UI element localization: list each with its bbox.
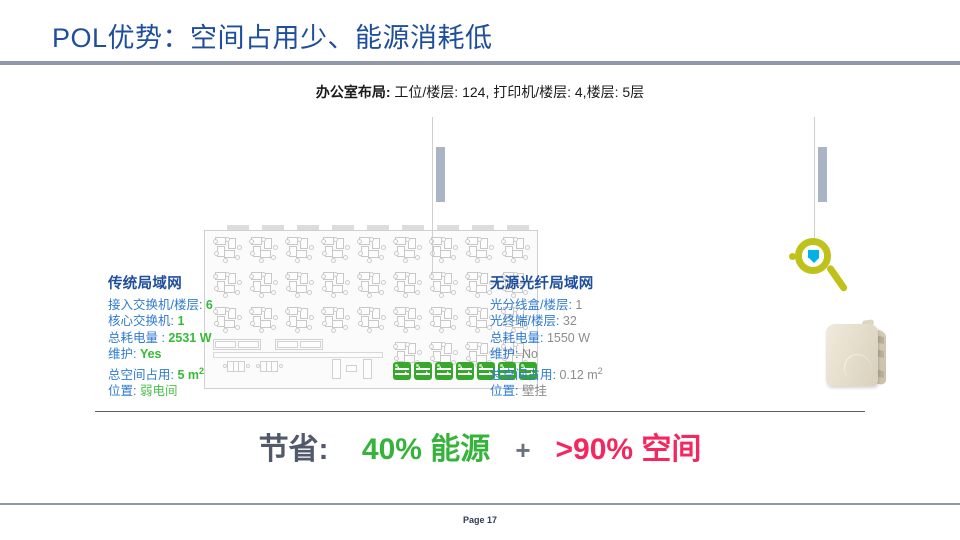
chair <box>273 245 278 250</box>
spec-row: 维护: Yes <box>108 346 213 363</box>
spec-label: 接入交换机/楼层: <box>108 298 206 312</box>
product-port-1 <box>877 336 884 344</box>
chair <box>451 255 456 260</box>
spec-row: 光终端/楼层: 32 <box>490 313 603 330</box>
table-seat <box>238 341 259 348</box>
chair <box>381 315 386 320</box>
chair <box>345 245 350 250</box>
chair <box>259 293 264 298</box>
desk <box>440 285 451 293</box>
desk-cluster <box>213 272 243 298</box>
ethernet-switch-icon <box>435 362 453 380</box>
chair <box>309 280 314 285</box>
chair <box>405 272 410 277</box>
chair <box>333 237 338 242</box>
spec-heading-pol: 无源光纤局域网 <box>490 276 603 293</box>
utility-unit <box>363 359 372 379</box>
chair <box>237 245 242 250</box>
spec-value: 1 <box>575 298 582 312</box>
desk-cluster <box>357 272 387 298</box>
page-number: Page 17 <box>0 515 960 525</box>
chair <box>271 325 276 330</box>
ont-device-icon-zoomed <box>808 250 819 258</box>
chair <box>261 272 266 277</box>
desk-cluster <box>321 237 351 263</box>
chair <box>223 328 228 333</box>
desk-cluster <box>357 307 387 333</box>
chair <box>466 286 471 291</box>
subtitle: 办公室布局: 工位/楼层: 124, 打印机/楼层: 4,楼层: 5层 <box>0 82 960 102</box>
magnifier-dot <box>789 253 796 260</box>
spec-value-superscript: 2 <box>199 366 204 376</box>
chair <box>358 251 363 256</box>
chair <box>235 290 240 295</box>
spec-value: 0.12 m <box>559 368 597 382</box>
desk-cluster <box>285 237 315 263</box>
chair <box>297 237 302 242</box>
desk <box>332 285 343 293</box>
chair <box>246 364 250 368</box>
chair <box>297 272 302 277</box>
chair <box>213 274 218 279</box>
ethernet-switch-icon <box>414 362 432 380</box>
desk-cluster <box>321 307 351 333</box>
chair <box>249 309 254 314</box>
chair <box>475 328 480 333</box>
chair <box>343 255 348 260</box>
chair <box>259 258 264 263</box>
product-photo-splitter-box <box>822 318 894 390</box>
spec-heading-traditional: 传统局域网 <box>108 276 213 293</box>
desk <box>260 285 271 293</box>
chair <box>393 344 398 349</box>
chair <box>285 239 290 244</box>
chair <box>430 356 435 361</box>
spec-label: 光分线盒/楼层: <box>490 298 575 312</box>
spec-value: 弱电间 <box>140 384 178 398</box>
desk <box>404 250 415 258</box>
chair <box>223 258 228 263</box>
chair <box>237 280 242 285</box>
chair <box>430 321 435 326</box>
spec-row: 总耗电量: 1550 W <box>490 330 603 347</box>
chair <box>379 255 384 260</box>
chair <box>441 342 446 347</box>
chair <box>286 321 291 326</box>
chair <box>309 245 314 250</box>
table-seat <box>215 341 236 348</box>
chair <box>225 237 230 242</box>
chair <box>261 307 266 312</box>
subtitle-bold-part: 办公室布局: <box>316 84 391 100</box>
elevator-shaft-right <box>818 147 827 202</box>
chair <box>465 309 470 314</box>
desk <box>440 320 451 328</box>
chair <box>333 272 338 277</box>
chair <box>466 251 471 256</box>
desk <box>260 320 271 328</box>
chair <box>249 239 254 244</box>
chair <box>225 272 230 277</box>
chair <box>321 274 326 279</box>
chair <box>415 325 420 330</box>
summary-label: 节省: <box>259 433 329 466</box>
chair <box>367 293 372 298</box>
spec-row: 核心交换机: 1 <box>108 313 213 330</box>
ethernet-switch-icon <box>393 362 411 380</box>
chair <box>453 350 458 355</box>
floor-plan-traditional <box>100 113 445 278</box>
chair <box>322 321 327 326</box>
chair <box>451 325 456 330</box>
utility-unit <box>332 359 341 379</box>
desk-cluster <box>393 237 423 263</box>
chair <box>357 274 362 279</box>
chair <box>453 315 458 320</box>
desk <box>224 320 235 328</box>
chair <box>307 255 312 260</box>
floor-plan-pol <box>482 113 827 278</box>
shaft-line-left <box>432 117 433 274</box>
chair <box>214 251 219 256</box>
chair <box>286 286 291 291</box>
summary-energy-saving: 40% 能源 <box>362 433 490 466</box>
chair <box>394 286 399 291</box>
chair <box>307 325 312 330</box>
desk <box>476 320 487 328</box>
chair <box>271 290 276 295</box>
chair <box>453 280 458 285</box>
chair <box>237 315 242 320</box>
counter-bar <box>213 352 383 358</box>
product-highlight <box>840 350 876 386</box>
chair <box>379 290 384 295</box>
chair <box>453 245 458 250</box>
chair <box>259 328 264 333</box>
desk-cluster <box>249 307 279 333</box>
chair <box>307 290 312 295</box>
ethernet-switch-icon <box>456 362 474 380</box>
chair <box>250 321 255 326</box>
chair <box>415 255 420 260</box>
chair <box>429 309 434 314</box>
spec-value-superscript: 2 <box>598 366 603 376</box>
chair <box>465 239 470 244</box>
chair <box>295 258 300 263</box>
desk <box>404 320 415 328</box>
chair <box>451 290 456 295</box>
desk <box>296 320 307 328</box>
chair <box>405 237 410 242</box>
window-segment <box>227 225 249 230</box>
spec-row: 位置: 弱电间 <box>108 383 213 400</box>
chair <box>369 307 374 312</box>
chair <box>213 309 218 314</box>
desk-cluster <box>429 237 459 263</box>
spec-list-traditional: 传统局域网 接入交换机/楼层: 6 核心交换机: 1 总耗电量 : 2531 W… <box>108 276 213 400</box>
chair <box>223 293 228 298</box>
spec-value: 1 <box>177 314 184 328</box>
spec-label: 位置: <box>490 384 522 398</box>
desk <box>476 285 487 293</box>
spec-label: 核心交换机: <box>108 314 177 328</box>
chair <box>285 274 290 279</box>
chair <box>273 315 278 320</box>
chair <box>415 290 420 295</box>
chair <box>441 237 446 242</box>
chair <box>214 286 219 291</box>
chair <box>343 325 348 330</box>
chair <box>477 342 482 347</box>
chair <box>394 356 399 361</box>
chair <box>417 280 422 285</box>
chair <box>271 255 276 260</box>
chair <box>394 321 399 326</box>
chair <box>369 272 374 277</box>
spec-value: 1550 W <box>547 331 590 345</box>
desk-cluster <box>249 272 279 298</box>
chair <box>379 325 384 330</box>
chair <box>345 280 350 285</box>
chair <box>367 328 372 333</box>
chair <box>286 251 291 256</box>
chair <box>475 293 480 298</box>
chair <box>279 364 283 368</box>
chair <box>331 328 336 333</box>
chair <box>358 286 363 291</box>
footer-divider <box>0 503 960 505</box>
desk <box>224 285 235 293</box>
chair <box>358 321 363 326</box>
chair <box>235 325 240 330</box>
desk-cluster <box>393 307 423 333</box>
summary-line: 节省: 40% 能源 + >90% 空间 <box>0 424 960 468</box>
window-segment <box>437 225 459 230</box>
desk-cluster <box>429 307 459 333</box>
chair <box>249 274 254 279</box>
chair <box>439 258 444 263</box>
magnifier-handle <box>826 264 849 293</box>
chair <box>343 290 348 295</box>
desk <box>260 250 271 258</box>
spec-value: No <box>522 347 538 361</box>
chair <box>321 309 326 314</box>
window-segment <box>332 225 354 230</box>
chair <box>250 286 255 291</box>
spec-row: 总耗电量 : 2531 W <box>108 330 213 347</box>
spec-label: 位置: <box>108 384 140 398</box>
summary-divider <box>95 411 865 412</box>
desk <box>224 250 235 258</box>
desk-cluster <box>321 272 351 298</box>
table-seat <box>277 341 298 348</box>
desk-cluster <box>429 272 459 298</box>
desk <box>368 285 379 293</box>
chair <box>439 328 444 333</box>
chair <box>417 315 422 320</box>
chair <box>322 251 327 256</box>
chair <box>309 315 314 320</box>
small-desk-divider <box>266 361 272 372</box>
magnifier-icon <box>795 238 843 286</box>
spec-row: 位置: 壁挂 <box>490 383 603 400</box>
chair <box>297 307 302 312</box>
spec-value: 壁挂 <box>522 384 547 398</box>
desk-cluster <box>285 307 315 333</box>
chair <box>261 237 266 242</box>
desk-cluster <box>213 307 243 333</box>
spec-label: 维护: <box>108 347 140 361</box>
chair <box>250 251 255 256</box>
desk <box>368 320 379 328</box>
spec-label: 光终端/楼层: <box>490 314 563 328</box>
chair <box>403 258 408 263</box>
chair <box>331 293 336 298</box>
spec-value: 5 m <box>177 368 199 382</box>
spec-value: 2531 W <box>168 331 211 345</box>
desk <box>440 250 451 258</box>
spec-row: 维护: No <box>490 346 603 363</box>
chair <box>273 280 278 285</box>
product-port-2 <box>877 350 884 358</box>
chair <box>214 321 219 326</box>
chair <box>381 280 386 285</box>
chair <box>285 309 290 314</box>
product-body <box>826 324 878 386</box>
desk-cluster <box>393 272 423 298</box>
chair <box>430 286 435 291</box>
chair <box>465 344 470 349</box>
chair <box>439 293 444 298</box>
chair <box>357 309 362 314</box>
elevator-shaft-left <box>436 147 445 202</box>
desk <box>404 285 415 293</box>
window-segment <box>367 225 389 230</box>
chair <box>357 239 362 244</box>
spec-row: 总空间占用: 0.12 m2 <box>490 363 603 384</box>
chair <box>465 274 470 279</box>
chair <box>403 293 408 298</box>
chair <box>393 239 398 244</box>
chair <box>235 255 240 260</box>
window-segment <box>402 225 424 230</box>
spec-value: 6 <box>206 298 213 312</box>
utility-unit <box>346 365 357 372</box>
chair <box>466 356 471 361</box>
chair <box>477 307 482 312</box>
chair <box>223 364 227 368</box>
spec-value: 32 <box>563 314 577 328</box>
window-segment <box>297 225 319 230</box>
desk-cluster <box>357 237 387 263</box>
desk-cluster <box>213 237 243 263</box>
summary-space-saving: >90% 空间 <box>556 433 702 466</box>
chair <box>367 258 372 263</box>
slide-root: POL优势：空间占用少、能源消耗低 办公室布局: 工位/楼层: 124, 打印机… <box>0 0 960 540</box>
chair <box>417 245 422 250</box>
spec-value: Yes <box>140 347 162 361</box>
desk <box>296 250 307 258</box>
spec-label: 总耗电量: <box>490 331 547 345</box>
chair <box>394 251 399 256</box>
chair <box>405 342 410 347</box>
chair <box>369 237 374 242</box>
desk <box>332 250 343 258</box>
chair <box>381 245 386 250</box>
chair <box>429 344 434 349</box>
chair <box>321 239 326 244</box>
chair <box>417 350 422 355</box>
chair <box>441 307 446 312</box>
chair <box>475 258 480 263</box>
spec-row: 接入交换机/楼层: 6 <box>108 297 213 314</box>
chair <box>295 328 300 333</box>
chair <box>466 321 471 326</box>
desk <box>332 320 343 328</box>
chair <box>225 307 230 312</box>
page-title: POL优势：空间占用少、能源消耗低 <box>52 16 493 55</box>
chair <box>256 364 260 368</box>
spec-row: 总空间占用: 5 m2 <box>108 363 213 384</box>
desk-cluster <box>249 237 279 263</box>
spec-row: 光分线盒/楼层: 1 <box>490 297 603 314</box>
desk <box>368 250 379 258</box>
chair <box>405 307 410 312</box>
summary-plus-sign: + <box>515 435 530 465</box>
chair <box>322 286 327 291</box>
chair <box>393 274 398 279</box>
chair <box>331 258 336 263</box>
spec-label: 总空间占用: <box>490 368 559 382</box>
chair <box>345 315 350 320</box>
desk <box>296 285 307 293</box>
spec-label: 总耗电量 : <box>108 331 168 345</box>
window-segment <box>262 225 284 230</box>
desk-cluster <box>285 272 315 298</box>
chair <box>295 293 300 298</box>
subtitle-rest: 工位/楼层: 124, 打印机/楼层: 4,楼层: 5层 <box>391 84 645 100</box>
spec-list-pol: 无源光纤局域网 光分线盒/楼层: 1 光终端/楼层: 32 总耗电量: 1550… <box>490 276 603 400</box>
chair <box>429 274 434 279</box>
product-port-3 <box>877 370 884 378</box>
title-divider <box>0 61 960 65</box>
chair <box>333 307 338 312</box>
chair <box>403 328 408 333</box>
chair <box>213 239 218 244</box>
table-seat <box>300 341 321 348</box>
spec-label: 维护: <box>490 347 522 361</box>
chair <box>393 309 398 314</box>
spec-label: 总空间占用: <box>108 368 177 382</box>
chair <box>441 272 446 277</box>
small-desk-divider <box>233 361 239 372</box>
